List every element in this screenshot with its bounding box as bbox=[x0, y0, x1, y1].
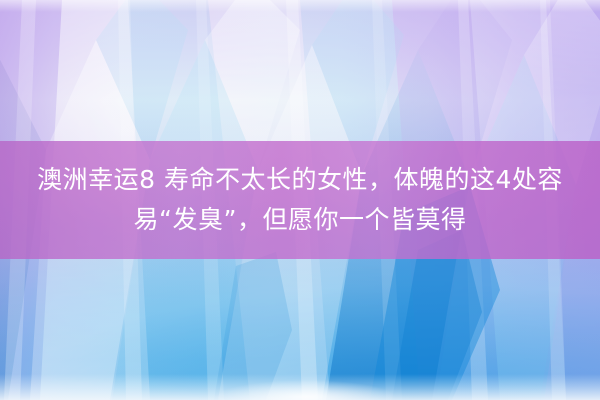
banner-image: 澳洲幸运8 寿命不太长的女性，体魄的这4处容 易“发臭”，但愿你一个皆莫得 bbox=[0, 0, 600, 400]
caption-band: 澳洲幸运8 寿命不太长的女性，体魄的这4处容 易“发臭”，但愿你一个皆莫得 bbox=[0, 141, 600, 259]
top-sheen bbox=[0, 0, 600, 12]
caption-line-2: 易“发臭”，但愿你一个皆莫得 bbox=[134, 200, 467, 240]
caption-line-1: 澳洲幸运8 寿命不太长的女性，体魄的这4处容 bbox=[37, 160, 563, 200]
bottom-glow bbox=[216, 380, 396, 400]
